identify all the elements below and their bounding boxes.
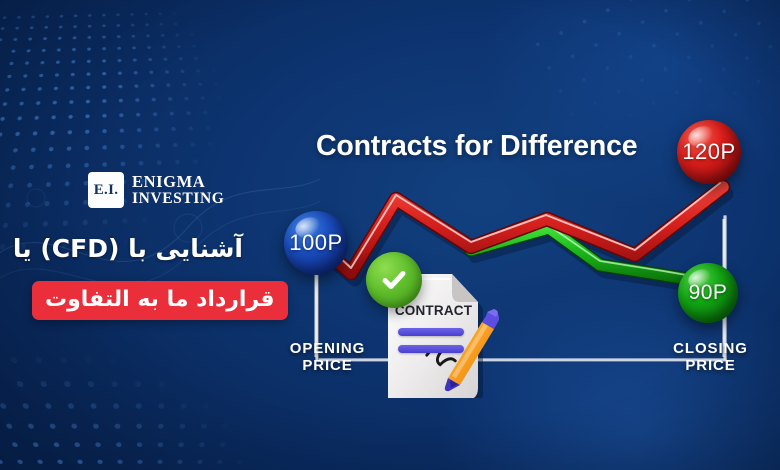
contract-document[interactable]: CONTRACT [374,258,499,398]
axis-caption-opening-line1: OPENING [265,340,390,357]
marker-label-opening: 100P [289,230,342,256]
logo-name-line1: ENIGMA [132,174,224,191]
marker-high-price[interactable]: 120P [677,120,741,184]
persian-title-badge: قرارداد ما به التفاوت [32,281,288,320]
axis-caption-opening: OPENING PRICE [265,340,390,375]
axis-caption-closing-line1: CLOSING [648,340,773,357]
persian-subtitle: آشنایی با (CFD) یا [28,234,243,263]
axis-caption-closing: CLOSING PRICE [648,340,773,375]
document-text-line-2 [398,345,464,353]
marker-label-high: 120P [682,139,735,165]
axis-caption-opening-line2: PRICE [265,357,390,374]
logo-monogram: E.I. [88,172,124,208]
marker-label-low: 90P [689,281,728,305]
axis-caption-closing-line2: PRICE [648,357,773,374]
marker-low-price[interactable]: 90P [678,263,738,323]
check-glyph [379,265,409,295]
brand-logo[interactable]: E.I. ENIGMA INVESTING [88,172,224,208]
document-text-line-1 [398,328,464,336]
banner-canvas: E.I. ENIGMA INVESTING آشنایی با (CFD) یا… [0,0,780,470]
logo-wordmark: ENIGMA INVESTING [132,174,224,207]
marker-opening-price[interactable]: 100P [284,211,348,275]
logo-name-line2: INVESTING [132,191,224,207]
check-icon [366,252,422,308]
